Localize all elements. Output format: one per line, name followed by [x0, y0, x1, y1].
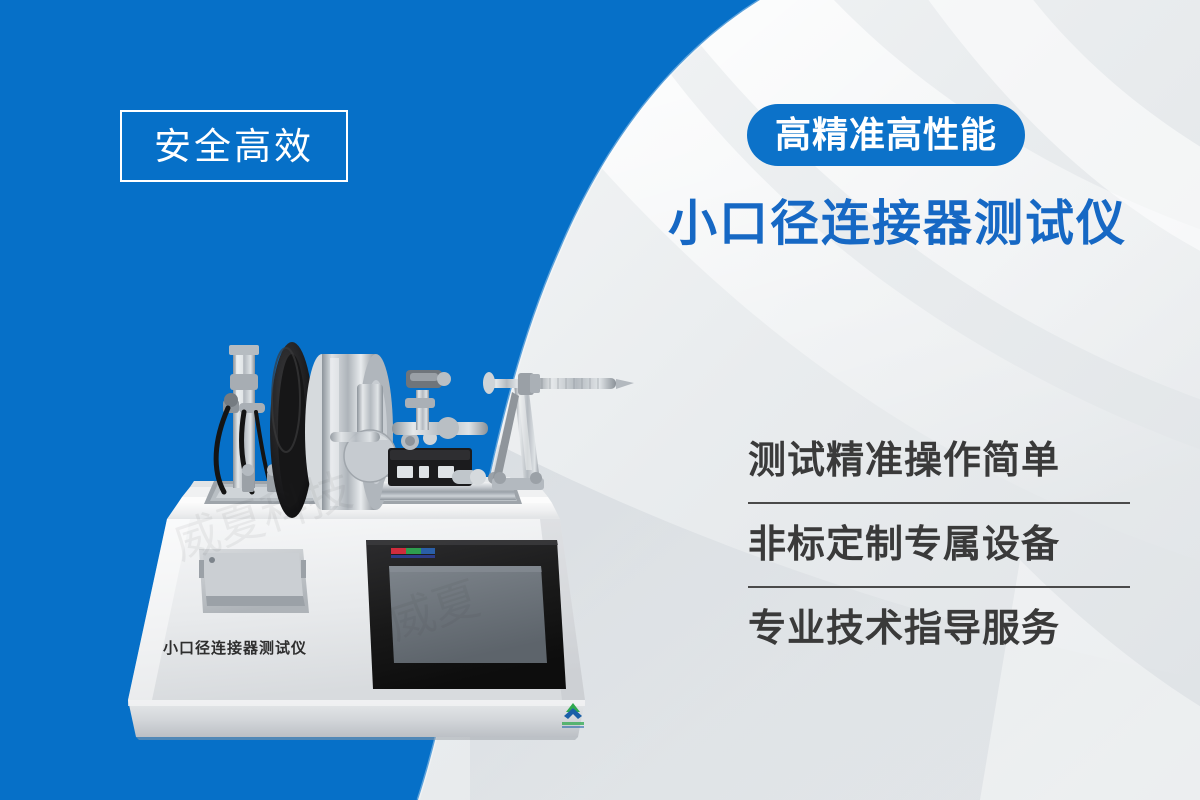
promotional-banner: 安全高效 高精准高性能 小口径连接器测试仪 测试精准操作简单 非标定制专属设备 …	[0, 0, 1200, 800]
badge-safe-efficient: 安全高效	[120, 110, 348, 182]
feature-item: 专业技术指导服务	[748, 588, 1130, 670]
badge-pill-label: 高精准高性能	[775, 117, 997, 153]
page-title: 小口径连接器测试仪	[668, 196, 1127, 252]
badge-safe-label: 安全高效	[154, 128, 314, 165]
feature-label: 非标定制专属设备	[748, 526, 1060, 564]
feature-label: 专业技术指导服务	[748, 610, 1060, 648]
feature-label: 测试精准操作简单	[748, 442, 1060, 480]
feature-item: 测试精准操作简单	[748, 420, 1130, 502]
feature-item: 非标定制专属设备	[748, 504, 1130, 586]
machine-panel-label: 小口径连接器测试仪	[163, 637, 307, 658]
feature-list: 测试精准操作简单 非标定制专属设备 专业技术指导服务	[748, 420, 1130, 670]
badge-high-precision: 高精准高性能	[747, 104, 1025, 166]
